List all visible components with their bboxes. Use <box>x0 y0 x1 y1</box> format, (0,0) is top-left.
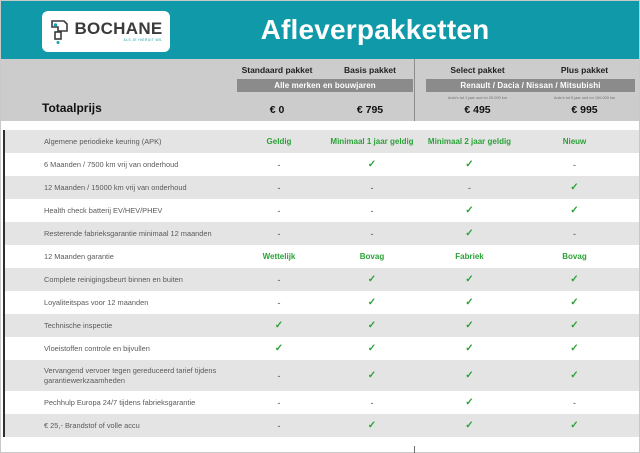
table-header-band: Totaalprijs Standaard pakket Basis pakke… <box>1 59 639 121</box>
row-label: Vloeistoffen controle en bijvullen <box>3 344 231 354</box>
row-cell: Bovag <box>327 252 417 261</box>
row-cell: - <box>327 398 417 408</box>
afleverpakketten-page: BOCHANE ALS JE HIERUIT WIL Afleverpakket… <box>0 0 640 453</box>
row-cell: ✓ <box>522 298 627 308</box>
row-label: € 25,- Brandstof of volle accu <box>3 421 231 431</box>
page-title: Afleverpakketten <box>1 14 639 46</box>
row-cell: ✓ <box>327 321 417 331</box>
row-label: 12 Maanden / 15000 km vrij van onderhoud <box>3 183 231 193</box>
row-cell: Nieuw <box>522 137 627 146</box>
row-cell: Geldig <box>231 137 327 146</box>
row-cell: ✓ <box>327 371 417 381</box>
table-row: Loyaliteitspas voor 12 maanden-✓✓✓ <box>1 291 639 314</box>
row-cell: Wettelijk <box>231 252 327 261</box>
row-cell: - <box>327 183 417 193</box>
row-label: Resterende fabrieksgarantie minimaal 12 … <box>3 229 231 239</box>
row-edge-marker <box>3 314 5 337</box>
table-row: 12 Maanden / 15000 km vrij van onderhoud… <box>1 176 639 199</box>
row-cell: ✓ <box>522 344 627 354</box>
row-cell: - <box>231 371 327 381</box>
price-select: € 495 <box>425 104 530 116</box>
row-cell: - <box>231 183 327 193</box>
table-footer-spacer <box>1 437 639 446</box>
row-label: 12 Maanden garantie <box>3 252 231 262</box>
total-price-label: Totaalprijs <box>42 101 102 115</box>
row-cell: ✓ <box>327 298 417 308</box>
row-edge-marker <box>3 130 5 153</box>
table-body: Algemene periodieke keuring (APK)GeldigM… <box>1 121 639 446</box>
row-cell: ✓ <box>327 344 417 354</box>
row-cell: Bovag <box>522 252 627 261</box>
table-row: Technische inspectie✓✓✓✓ <box>1 314 639 337</box>
row-cell: ✓ <box>522 206 627 216</box>
row-cell: ✓ <box>417 398 522 408</box>
row-cell: ✓ <box>327 421 417 431</box>
group-banner-merken: Renault / Dacia / Nissan / Mitsubishi <box>426 79 635 92</box>
row-cell: - <box>231 298 327 308</box>
row-cell: ✓ <box>417 321 522 331</box>
row-label: Health check batterij EV/HEV/PHEV <box>3 206 231 216</box>
row-edge-marker <box>3 337 5 360</box>
row-cell: Minimaal 2 jaar geldig <box>417 137 522 146</box>
table-row: Vloeistoffen controle en bijvullen✓✓✓✓ <box>1 337 639 360</box>
column-header-select: Select pakket <box>425 65 530 75</box>
price-standaard: € 0 <box>229 104 325 116</box>
row-cell: - <box>231 160 327 170</box>
row-edge-marker <box>3 268 5 291</box>
row-cell: - <box>327 229 417 239</box>
column-header-standaard: Standaard pakket <box>229 65 325 75</box>
row-cell: Minimaal 1 jaar geldig <box>327 137 417 146</box>
row-cell: Fabriek <box>417 252 522 261</box>
table-row: Pechhulp Europa 24/7 tijdens fabrieksgar… <box>1 391 639 414</box>
table-row: Algemene periodieke keuring (APK)GeldigM… <box>1 130 639 153</box>
row-label: Algemene periodieke keuring (APK) <box>3 137 231 147</box>
row-edge-marker <box>3 391 5 414</box>
row-cell: - <box>231 275 327 285</box>
row-edge-marker <box>3 176 5 199</box>
table-row: 6 Maanden / 7500 km vrij van onderhoud-✓… <box>1 153 639 176</box>
column-subnote-plus: Auto's tot 5 jaar oud en 100.000 km <box>532 95 637 100</box>
column-header-basis: Basis pakket <box>325 65 415 75</box>
table-row: Resterende fabrieksgarantie minimaal 12 … <box>1 222 639 245</box>
row-edge-marker <box>3 245 5 268</box>
row-cell: ✓ <box>522 421 627 431</box>
row-cell: ✓ <box>231 321 327 331</box>
row-edge-marker <box>3 360 5 391</box>
row-cell: - <box>522 160 627 170</box>
row-cell: ✓ <box>231 344 327 354</box>
row-cell: ✓ <box>522 371 627 381</box>
column-subnote-select: Auto's tot 1 jaar oud en 20.000 km <box>425 95 530 100</box>
table-row: 12 Maanden garantieWettelijkBovagFabriek… <box>1 245 639 268</box>
row-cell: - <box>231 398 327 408</box>
price-plus: € 995 <box>532 104 637 116</box>
table-row: € 25,- Brandstof of volle accu-✓✓✓ <box>1 414 639 437</box>
row-edge-marker <box>3 414 5 437</box>
row-label: Vervangend vervoer tegen gereduceerd tar… <box>3 366 231 386</box>
row-cell: ✓ <box>417 421 522 431</box>
page-header: BOCHANE ALS JE HIERUIT WIL Afleverpakket… <box>1 1 639 59</box>
price-basis: € 795 <box>325 104 415 116</box>
row-cell: ✓ <box>417 298 522 308</box>
row-cell: - <box>231 421 327 431</box>
row-edge-marker <box>3 222 5 245</box>
row-label: Loyaliteitspas voor 12 maanden <box>3 298 231 308</box>
table-row: Vervangend vervoer tegen gereduceerd tar… <box>1 360 639 391</box>
row-edge-marker <box>3 153 5 176</box>
column-header-plus: Plus pakket <box>532 65 637 75</box>
row-edge-marker <box>3 199 5 222</box>
row-cell: ✓ <box>417 160 522 170</box>
row-label: Technische inspectie <box>3 321 231 331</box>
row-cell: - <box>417 183 522 193</box>
row-cell: ✓ <box>522 183 627 193</box>
row-cell: ✓ <box>417 275 522 285</box>
row-cell: ✓ <box>522 321 627 331</box>
row-label: Pechhulp Europa 24/7 tijdens fabrieksgar… <box>3 398 231 408</box>
row-cell: ✓ <box>522 275 627 285</box>
row-cell: ✓ <box>417 229 522 239</box>
row-cell: - <box>522 229 627 239</box>
row-label: Complete reinigingsbeurt binnen en buite… <box>3 275 231 285</box>
row-cell: - <box>522 398 627 408</box>
row-cell: ✓ <box>327 275 417 285</box>
row-cell: - <box>231 206 327 216</box>
row-cell: ✓ <box>417 371 522 381</box>
table-row: Complete reinigingsbeurt binnen en buite… <box>1 268 639 291</box>
row-cell: ✓ <box>417 344 522 354</box>
table-spacer-row <box>1 121 639 130</box>
table: Totaalprijs Standaard pakket Basis pakke… <box>1 59 639 446</box>
group-banner-alle-merken: Alle merken en bouwjaren <box>237 79 413 92</box>
row-cell: - <box>231 229 327 239</box>
row-edge-marker <box>3 291 5 314</box>
row-cell: ✓ <box>327 160 417 170</box>
row-cell: - <box>327 206 417 216</box>
row-label: 6 Maanden / 7500 km vrij van onderhoud <box>3 160 231 170</box>
row-cell: ✓ <box>417 206 522 216</box>
table-row: Health check batterij EV/HEV/PHEV--✓✓ <box>1 199 639 222</box>
